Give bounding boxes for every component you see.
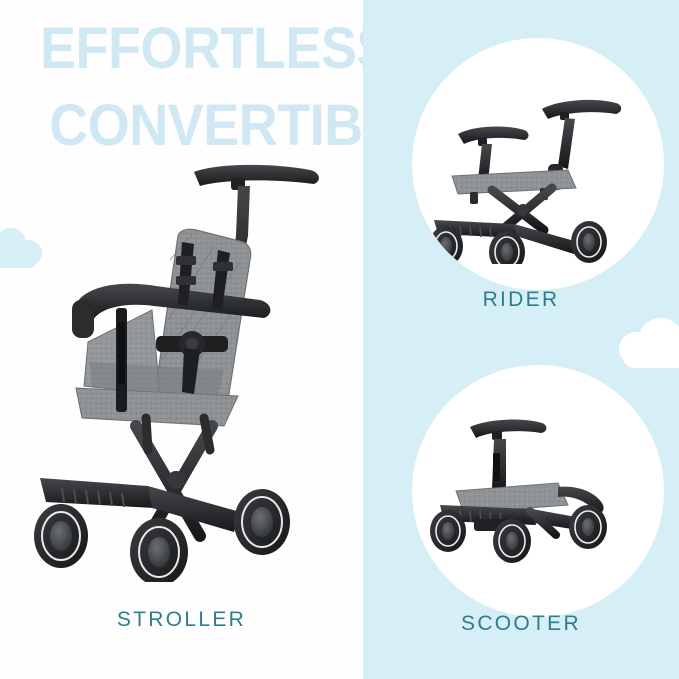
scooter-circle [412, 365, 664, 617]
scooter-t-bar [470, 420, 546, 491]
headline-line-2: CONVERTIBLE [49, 99, 356, 152]
rider-circle [412, 38, 664, 290]
cloud-icon [619, 318, 679, 370]
stroller-panel: EFFORTLESSLY CONVERTIBLE [0, 0, 363, 679]
product-feature-graphic: EFFORTLESSLY CONVERTIBLE [0, 0, 679, 679]
rider-platform [452, 170, 576, 204]
stroller-seat-base [76, 362, 238, 426]
headline-line-1: EFFORTLESSLY [40, 22, 356, 75]
stroller-product-image [28, 150, 348, 582]
scooter-product-image [426, 413, 654, 573]
modes-panel: RIDER [363, 0, 679, 679]
caption-rider: RIDER [363, 288, 679, 312]
brand-badge [116, 308, 127, 412]
headline: EFFORTLESSLY CONVERTIBLE [40, 22, 356, 153]
caption-stroller: STROLLER [0, 608, 363, 632]
caption-scooter: SCOOTER [363, 612, 679, 636]
rider-product-image [428, 64, 650, 264]
